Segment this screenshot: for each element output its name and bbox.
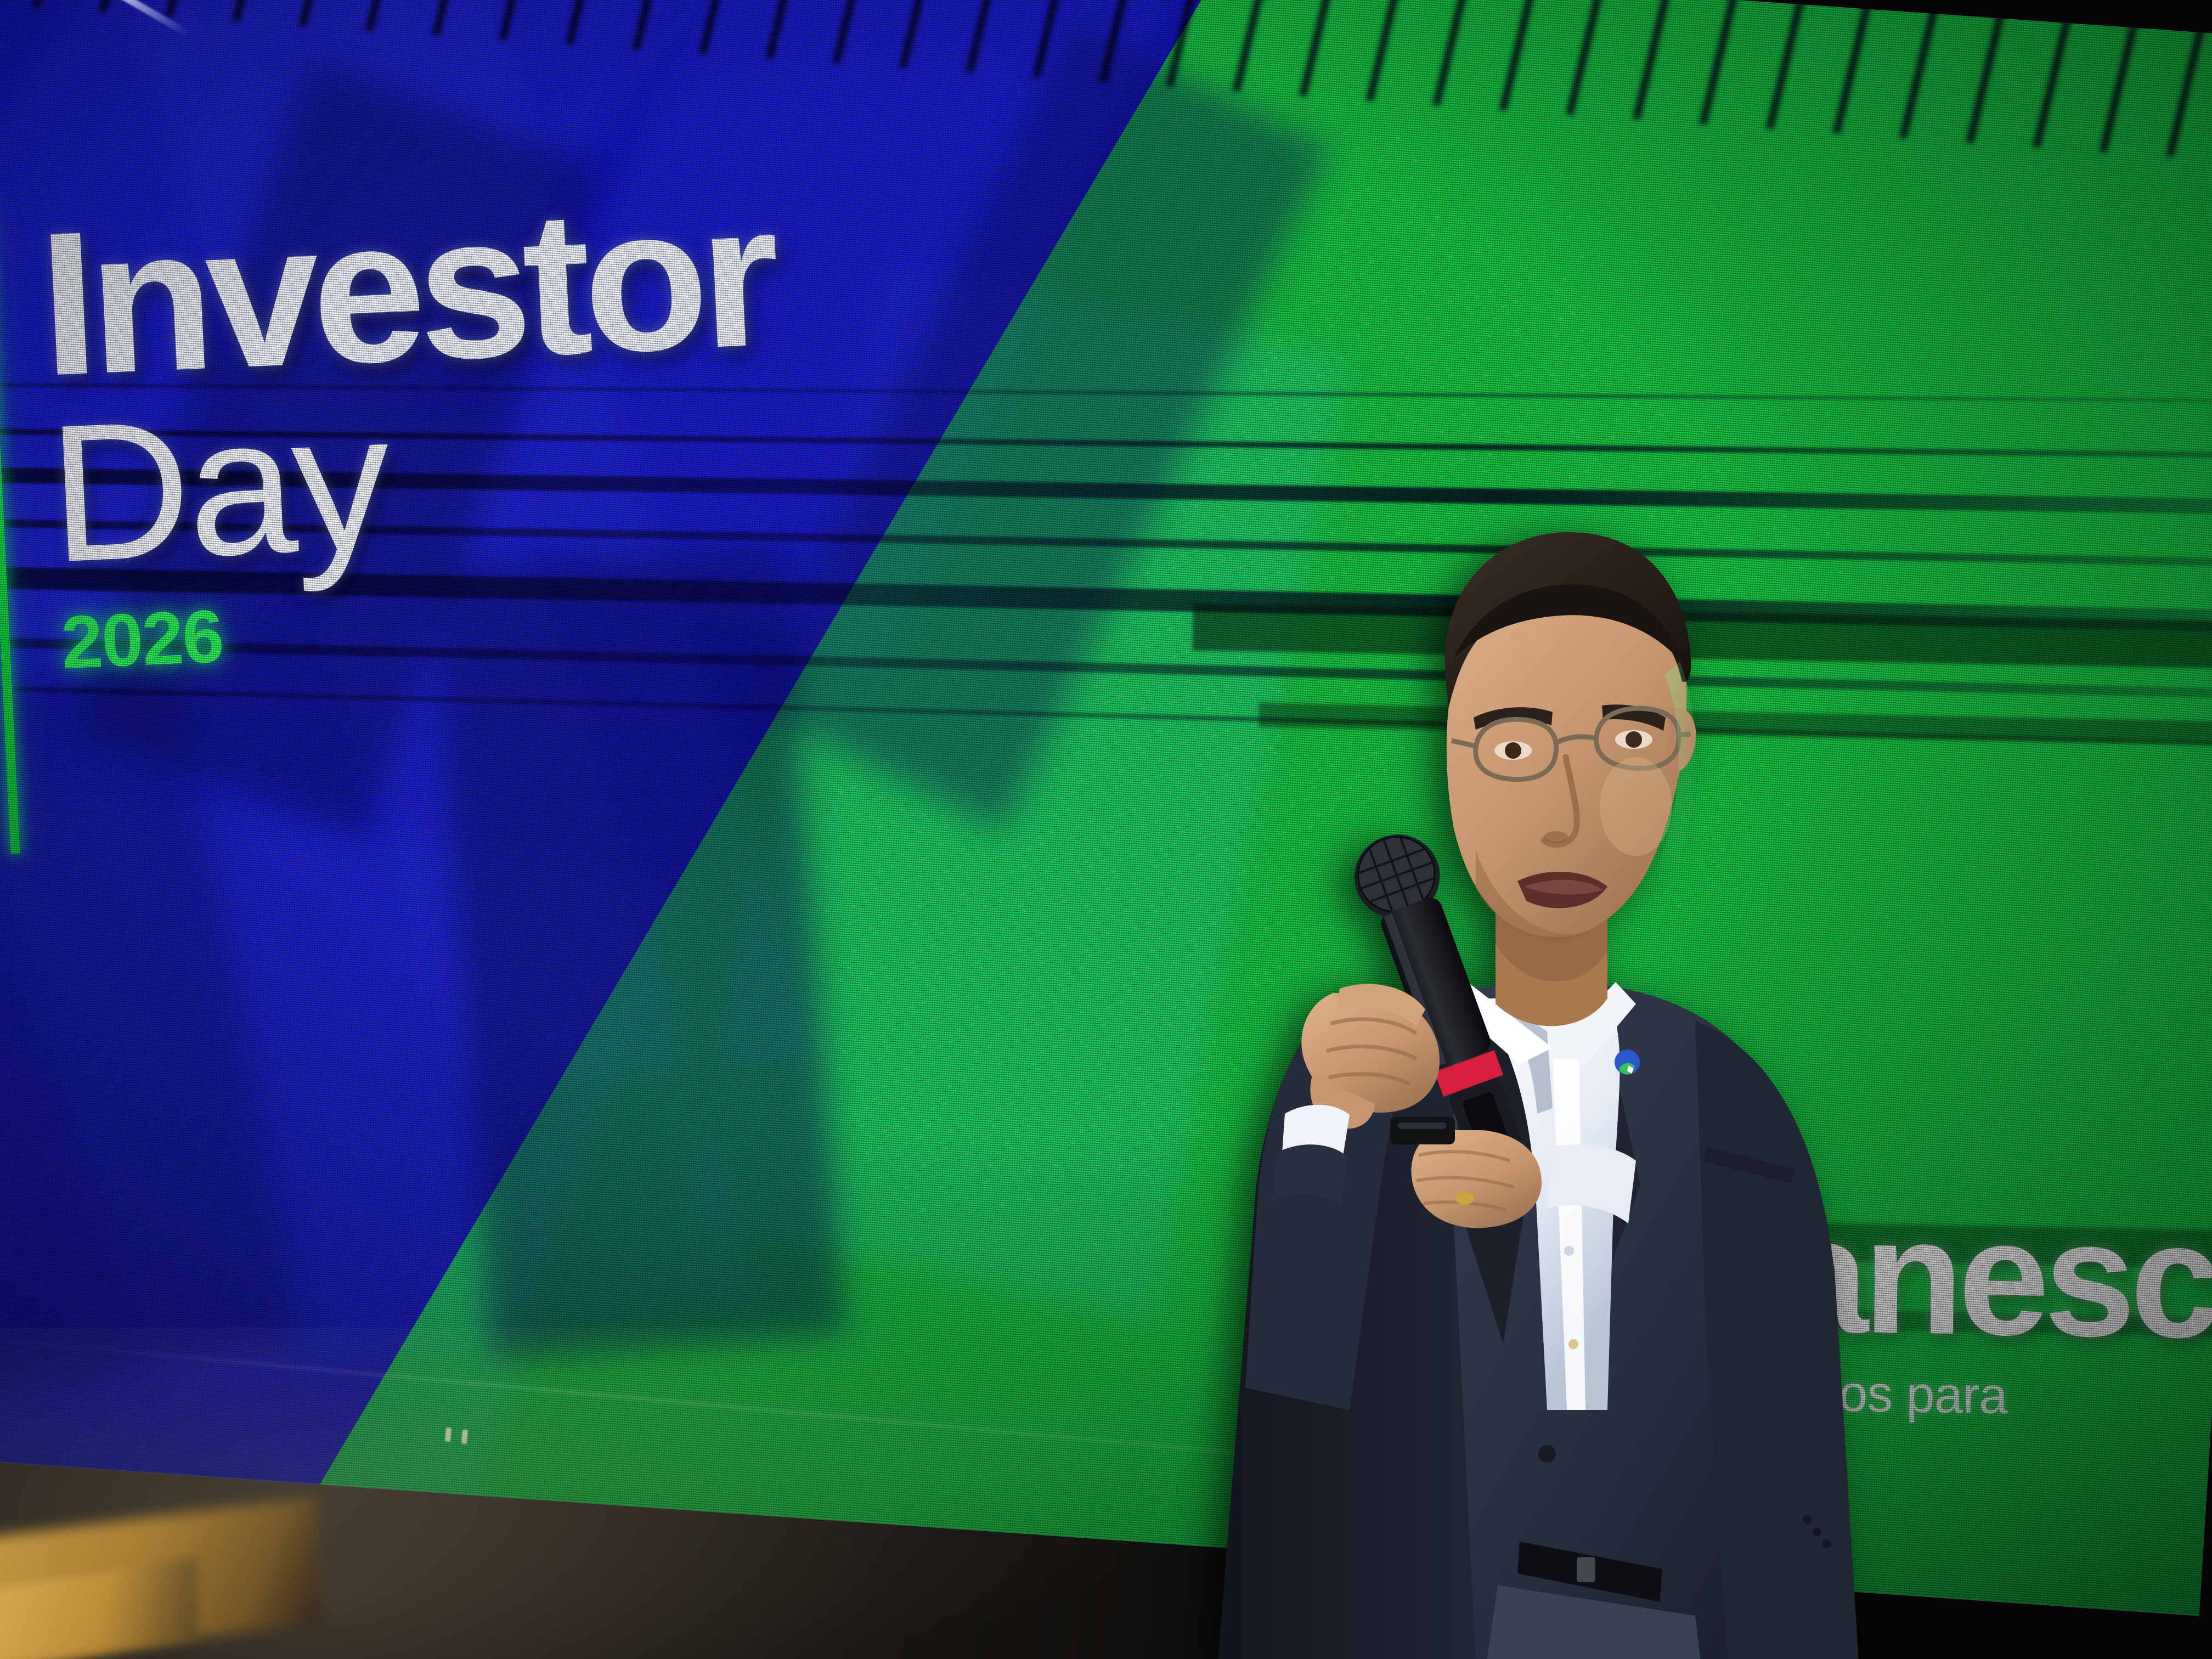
presentation-clicker [1390,1117,1455,1144]
headline-lockup: Investor Day 2026 [0,174,798,854]
headline-line-day: Day [46,373,786,586]
presenter-head [1445,532,1696,941]
presenter-figure [1169,510,1882,1659]
wedding-ring [1455,1192,1474,1205]
photo-stage: Investor Day 2026 banesco juntos para [0,0,2212,1659]
headline-line-investor: Investor [36,188,776,390]
lapel-pin [1615,1049,1640,1075]
